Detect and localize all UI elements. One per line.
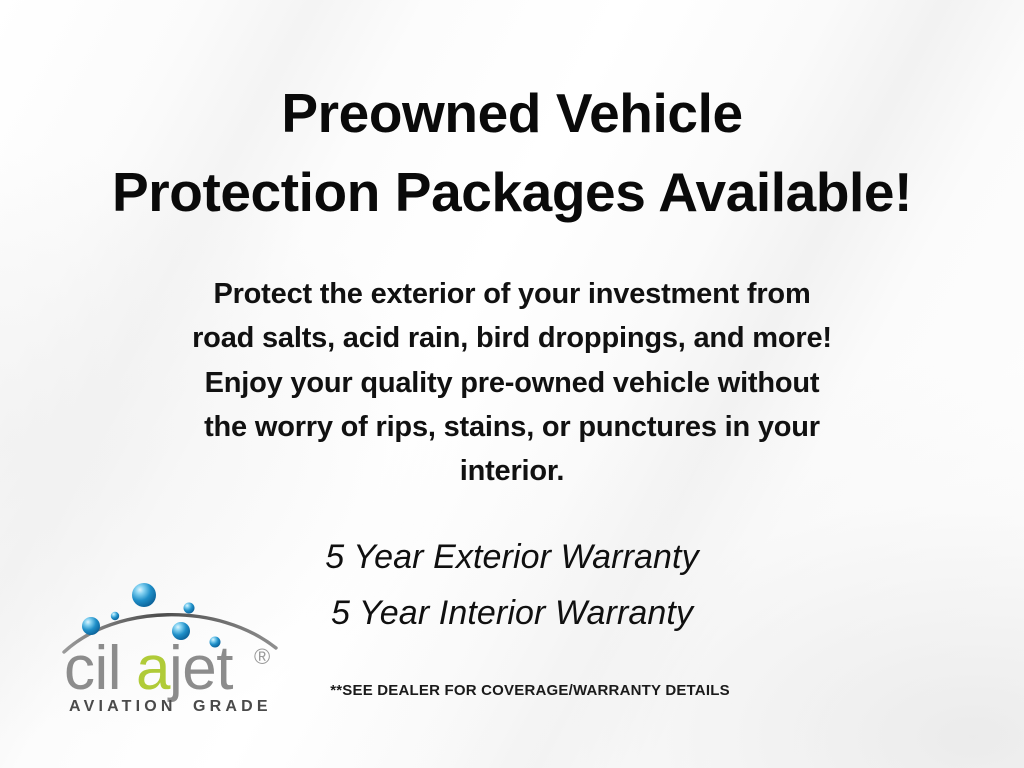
headline-line-1: Preowned Vehicle	[12, 74, 1012, 153]
page-title: Preowned Vehicle Protection Packages Ava…	[12, 74, 1012, 232]
droplet-icon-2	[111, 612, 119, 620]
registered-trademark-icon: ®	[254, 644, 270, 669]
body-copy-line-4: the worry of rips, stains, or punctures …	[122, 405, 902, 449]
droplet-icon-3	[132, 583, 156, 607]
logo-tagline-left: AVIATION	[69, 698, 177, 715]
body-copy: Protect the exterior of your investment …	[122, 272, 902, 492]
headline-line-2: Protection Packages Available!	[12, 153, 1012, 232]
logo-tagline-right: GRADE	[193, 698, 272, 715]
slide-canvas: Preowned Vehicle Protection Packages Ava…	[0, 0, 1024, 768]
droplet-icon-4	[184, 603, 195, 614]
cilajet-logo-svg: cil a jet ® AVIATION GRADE	[58, 578, 298, 718]
body-copy-line-3: Enjoy your quality pre-owned vehicle wit…	[122, 361, 902, 405]
body-copy-line-5: interior.	[122, 449, 902, 493]
logo-wordmark-accent: a	[136, 634, 171, 703]
cilajet-logo: cil a jet ® AVIATION GRADE	[58, 578, 298, 718]
logo-wordmark-part1: cil	[64, 634, 121, 703]
body-copy-line-2: road salts, acid rain, bird droppings, a…	[122, 316, 902, 360]
logo-wordmark-part2: jet	[167, 634, 233, 703]
logo-wordmark: cil a jet ®	[64, 634, 270, 703]
body-copy-line-1: Protect the exterior of your investment …	[122, 272, 902, 316]
logo-tagline: AVIATION GRADE	[69, 698, 272, 715]
droplet-icon-1	[82, 617, 100, 635]
warranty-exterior: 5 Year Exterior Warranty	[122, 529, 902, 585]
